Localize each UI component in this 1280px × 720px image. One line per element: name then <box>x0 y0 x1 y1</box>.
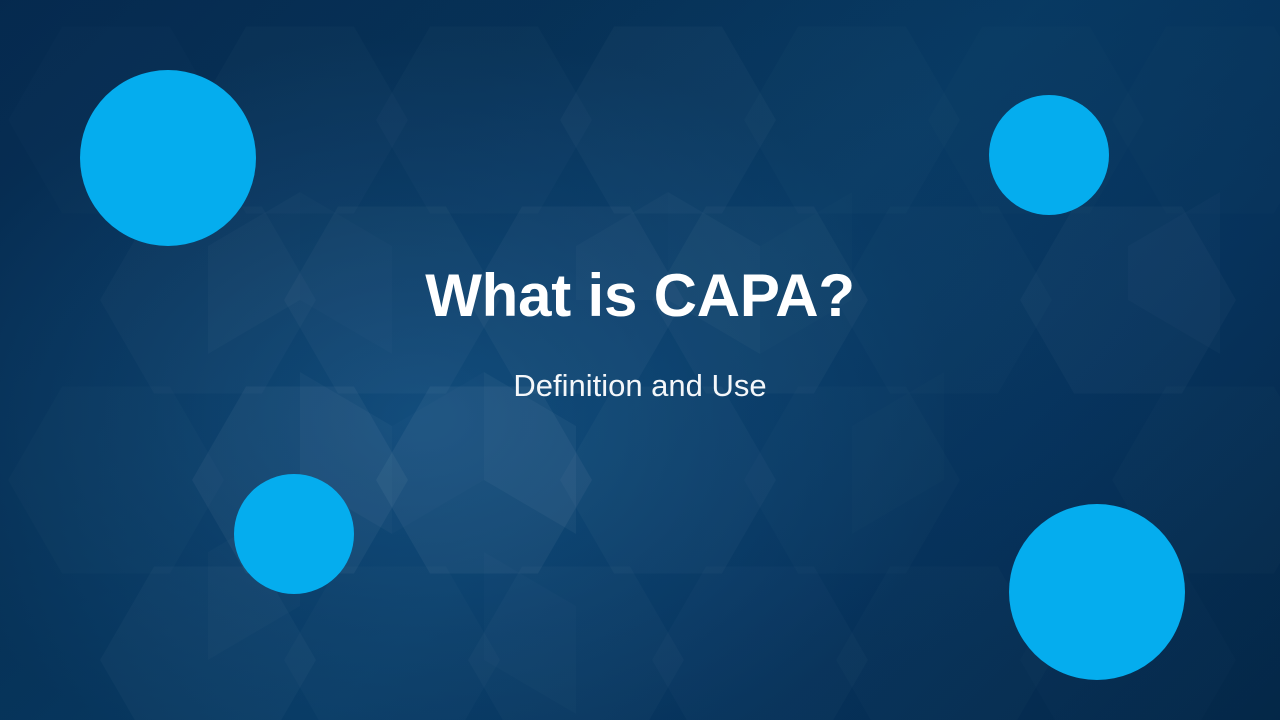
circle-top-right <box>989 95 1109 215</box>
hexagon-shape <box>468 567 684 720</box>
slide-subtitle: Definition and Use <box>0 366 1280 406</box>
hexagon-shape <box>560 387 776 574</box>
hexagon-shape <box>376 27 592 214</box>
slide-title: What is CAPA? <box>0 262 1280 330</box>
circle-top-left <box>80 70 256 246</box>
hexagon-shape <box>376 387 592 574</box>
hexagon-shape <box>1112 27 1280 214</box>
hexagon-shape <box>652 567 868 720</box>
circle-bottom-left <box>234 474 354 594</box>
title-slide: What is CAPA? Definition and Use <box>0 0 1280 720</box>
hexagon-shape <box>560 27 776 214</box>
hexagon-shape <box>8 387 224 574</box>
hexagon-facet-shape <box>484 552 576 714</box>
circle-bottom-right <box>1009 504 1185 680</box>
hexagon-shape <box>744 27 960 214</box>
hexagon-shape <box>744 387 960 574</box>
